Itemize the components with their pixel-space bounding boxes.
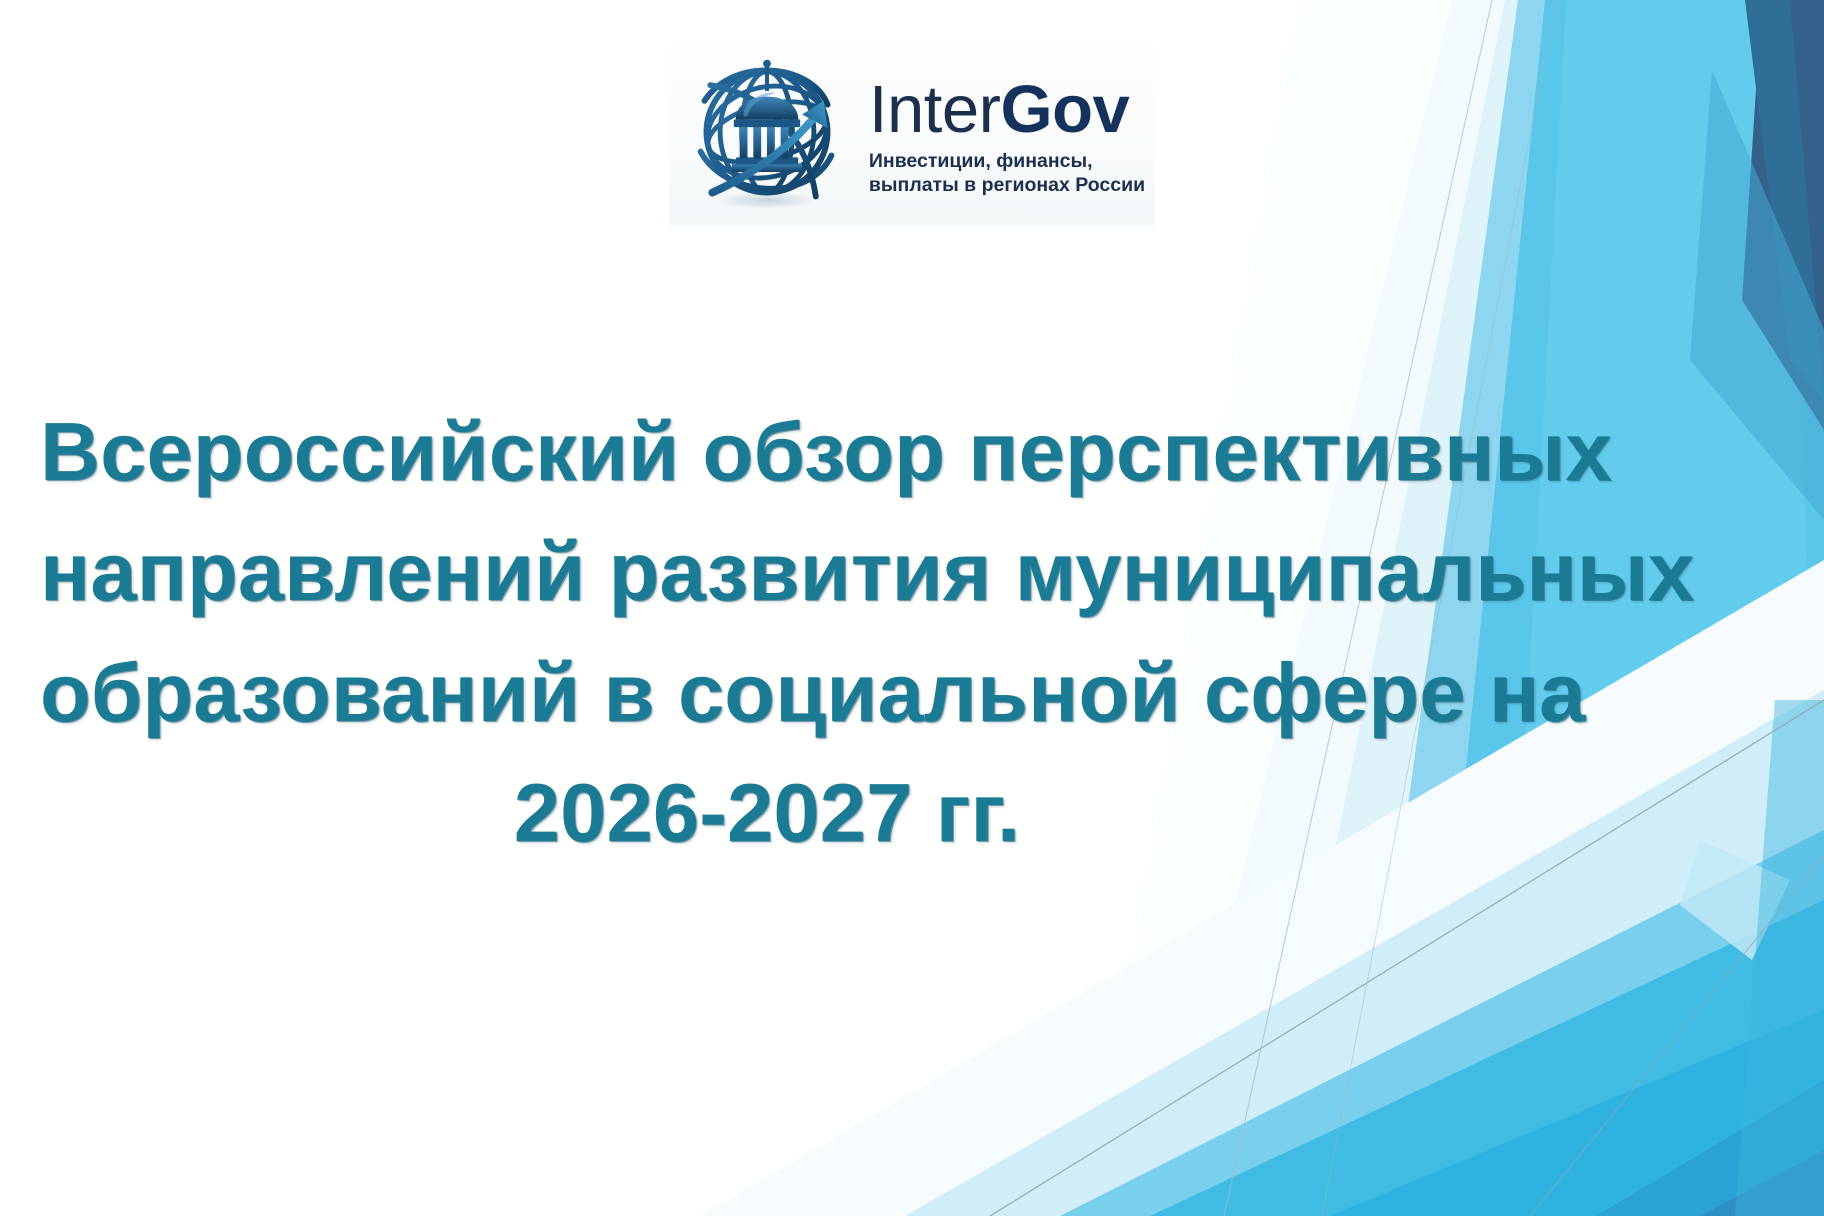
facet-corner-deep2	[1700, 1150, 1824, 1216]
logo-wordmark-light: Inter	[869, 72, 1001, 147]
facet-highlight-kite	[1680, 840, 1790, 960]
logo-text-block: InterGov Инвестиции, финансы, выплаты в …	[869, 68, 1145, 197]
title-line-4: 2026-2027 гг.	[40, 753, 1494, 873]
facet-triangle-bright	[1330, 1010, 1824, 1216]
logo-wordmark: InterGov	[869, 78, 1145, 142]
hairline-diagonal-short	[1530, 856, 1824, 1216]
intergov-globe-capitol-arrow-logo	[679, 50, 855, 216]
title-slide: InterGov Инвестиции, финансы, выплаты в …	[0, 0, 1824, 1216]
facet-sliver-lower	[1735, 700, 1824, 1216]
logo-block: InterGov Инвестиции, финансы, выплаты в …	[0, 44, 1824, 226]
capitol-spire	[765, 66, 769, 91]
facet-corner-deep	[1596, 1080, 1824, 1216]
logo-tagline: Инвестиции, финансы, выплаты в регионах …	[869, 149, 1145, 198]
facet-diagonal-strong	[1150, 900, 1824, 1216]
facet-diagonal-mid	[1060, 830, 1824, 1216]
capitol-spire-ball	[763, 60, 771, 68]
page-title: Всероссийский обзор перспективных направ…	[40, 392, 1494, 873]
title-line-3: образований в социальной сфере на	[40, 633, 1494, 753]
title-line-2: направлений развития муниципальных	[40, 512, 1494, 632]
logo-tagline-line-1: Инвестиции, финансы,	[869, 149, 1145, 173]
logo-wordmark-bold: Gov	[1000, 72, 1129, 147]
logo-inner: InterGov Инвестиции, финансы, выплаты в …	[669, 44, 1155, 226]
title-line-1: Всероссийский обзор перспективных	[40, 392, 1494, 512]
capitol-entablature	[734, 119, 800, 127]
logo-tagline-line-2: выплаты в регионах России	[869, 173, 1145, 197]
